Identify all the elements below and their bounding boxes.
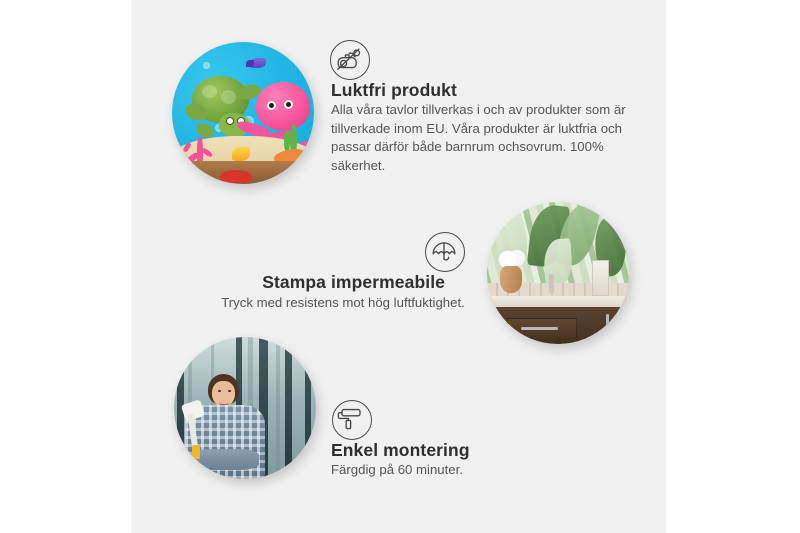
feature-image-waterproof [487, 202, 629, 344]
feature-image-easy-mounting [174, 337, 316, 479]
no-perfume-icon [330, 40, 370, 80]
feature-body-waterproof: Tryck med resistens mot hög luftfuktighe… [221, 295, 465, 310]
feature-image-odourless [172, 42, 314, 184]
feature-title-waterproof: Stampa impermeabile [262, 272, 445, 293]
forest-scene [174, 337, 316, 479]
bathroom-scene [487, 202, 629, 344]
feature-body-easy-mounting: Färgdig på 60 minuter. [331, 462, 463, 477]
feature-title-odourless: Luktfri produkt [331, 80, 457, 101]
feature-title-easy-mounting: Enkel montering [331, 440, 470, 461]
product-feature-graphic: Luktfri produkt Alla våra tavlor tillver… [0, 0, 800, 533]
umbrella-icon [425, 232, 465, 272]
feature-body-odourless: Alla våra tavlor tillverkas i och av pro… [331, 101, 631, 175]
paint-roller-icon [332, 400, 372, 440]
ocean-scene [172, 42, 314, 184]
